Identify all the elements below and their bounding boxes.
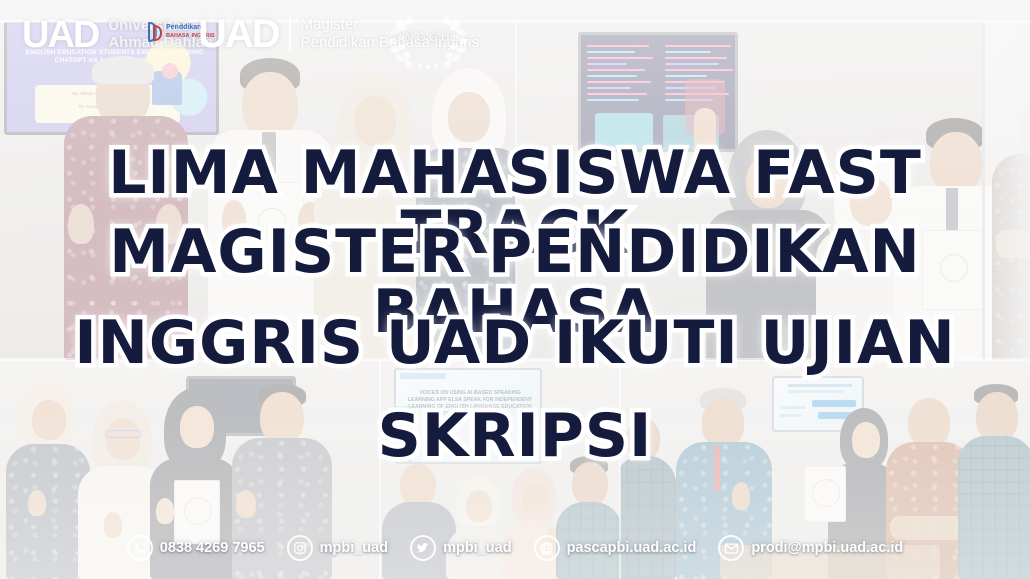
pbi-book-icon (148, 22, 164, 42)
instagram-icon (287, 535, 313, 561)
headline-line-4: SKRIPSI (0, 406, 1030, 466)
email-icon (718, 535, 744, 561)
contact-email[interactable]: prodi@mpbi.uad.ac.id (718, 535, 903, 561)
poster-header: UAD Universitas Ahmad Dahlan Penddikan B… (0, 0, 1030, 74)
contact-website[interactable]: pascapbi.uad.ac.id (534, 535, 697, 561)
contact-instagram-label: mpbi_uad (320, 540, 388, 556)
poster-canvas: ENGLISH EDUCATION STUDENTS EXPERIENCE US… (0, 0, 1030, 579)
globe-icon (534, 535, 560, 561)
contact-website-label: pascapbi.uad.ac.id (567, 540, 697, 556)
pbi-word-1: Pend (166, 24, 183, 31)
twitter-icon (410, 535, 436, 561)
contact-instagram[interactable]: mpbi_uad (287, 535, 388, 561)
phone-icon (127, 535, 153, 561)
contact-phone-label: 0838 4269 7965 (160, 540, 265, 556)
headline-line-3: INGGRIS UAD IKUTI UJIAN (0, 313, 1030, 373)
uad-logo-text: UAD (22, 16, 98, 54)
contact-bar: 0838 4269 7965 mpbi_uad mpbi_uad (0, 535, 1030, 561)
badge-label: UNGGUL (393, 30, 463, 44)
header-divider (289, 17, 291, 51)
contact-email-label: prodi@mpbi.uad.ac.id (751, 540, 903, 556)
uad-mark-text: UAD (198, 14, 279, 54)
pbi-word-2: BAHASA (166, 33, 190, 39)
contact-twitter[interactable]: mpbi_uad (410, 535, 511, 561)
contact-phone[interactable]: 0838 4269 7965 (127, 535, 265, 561)
contact-twitter-label: mpbi_uad (443, 540, 511, 556)
accreditation-badge: UNGGUL (374, 2, 482, 72)
